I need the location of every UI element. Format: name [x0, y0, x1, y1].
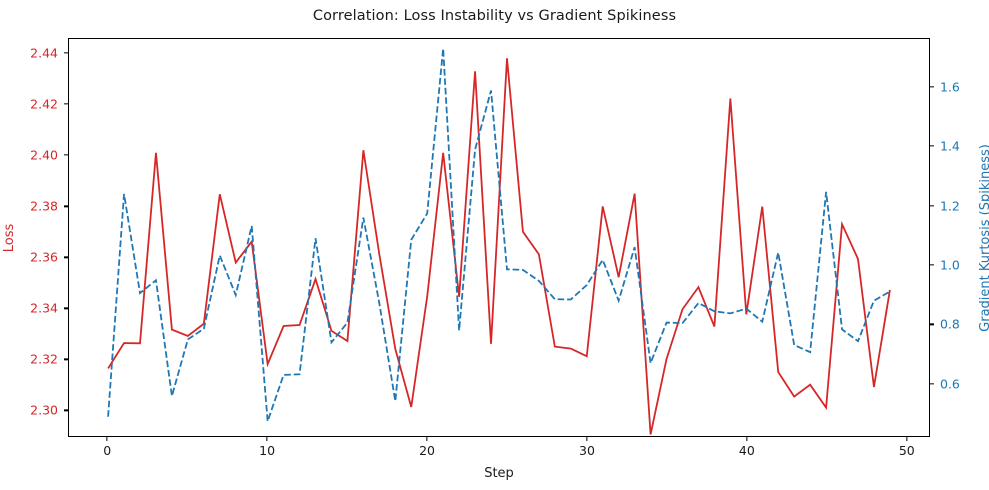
- right-axis-tick-label: 0.6: [940, 376, 960, 391]
- left-axis-tick-label: 2.36: [30, 250, 58, 265]
- right-axis-tick-label: 1.0: [940, 258, 960, 273]
- x-axis-tick-mark: [906, 437, 907, 441]
- series-line-left: [108, 58, 890, 434]
- left-axis-tick-label: 2.40: [30, 148, 58, 163]
- left-axis-tick-label: 2.44: [30, 46, 58, 61]
- plot-area: [68, 38, 930, 437]
- right-axis-tick-mark: [930, 86, 934, 87]
- x-axis-tick-label: 30: [579, 443, 595, 458]
- right-axis-tick-mark: [930, 205, 934, 206]
- right-axis-tick-label: 0.8: [940, 317, 960, 332]
- x-axis-tick-label: 40: [739, 443, 755, 458]
- chart-figure: Correlation: Loss Instability vs Gradien…: [0, 0, 989, 490]
- left-axis-title: Loss: [2, 224, 17, 253]
- x-axis-tick-mark: [586, 437, 587, 441]
- left-axis-tick-label: 2.32: [30, 352, 58, 367]
- x-axis-tick-label: 0: [103, 443, 111, 458]
- x-axis-tick-labels: 01020304050: [68, 443, 930, 463]
- right-axis-tick-mark: [930, 264, 934, 265]
- right-axis-tick-label: 1.6: [940, 79, 960, 94]
- x-axis-title: Step: [68, 466, 930, 481]
- right-axis-tick-mark: [930, 324, 934, 325]
- left-axis-tick-label: 2.30: [30, 403, 58, 418]
- x-axis-tick-mark: [426, 437, 427, 441]
- left-axis-tick-label: 2.38: [30, 199, 58, 214]
- right-axis-tick-mark: [930, 146, 934, 147]
- right-axis-title: Gradient Kurtosis (Spikiness): [978, 144, 989, 332]
- x-axis-tick-label: 50: [899, 443, 915, 458]
- right-axis-tick-marks: [930, 38, 936, 437]
- x-axis-tick-label: 20: [419, 443, 435, 458]
- x-axis-tick-mark: [266, 437, 267, 441]
- right-axis-tick-label: 1.4: [940, 139, 960, 154]
- series-layer: [69, 39, 929, 436]
- chart-title: Correlation: Loss Instability vs Gradien…: [0, 8, 989, 24]
- x-axis-tick-mark: [746, 437, 747, 441]
- x-axis-tick-mark: [107, 437, 108, 441]
- right-axis-tick-label: 1.2: [940, 198, 960, 213]
- left-axis-tick-label: 2.34: [30, 301, 58, 316]
- left-axis-tick-label: 2.42: [30, 97, 58, 112]
- series-line-right: [108, 48, 890, 421]
- x-axis-tick-label: 10: [259, 443, 275, 458]
- x-axis-tick-marks: [68, 437, 930, 443]
- right-axis-tick-mark: [930, 383, 934, 384]
